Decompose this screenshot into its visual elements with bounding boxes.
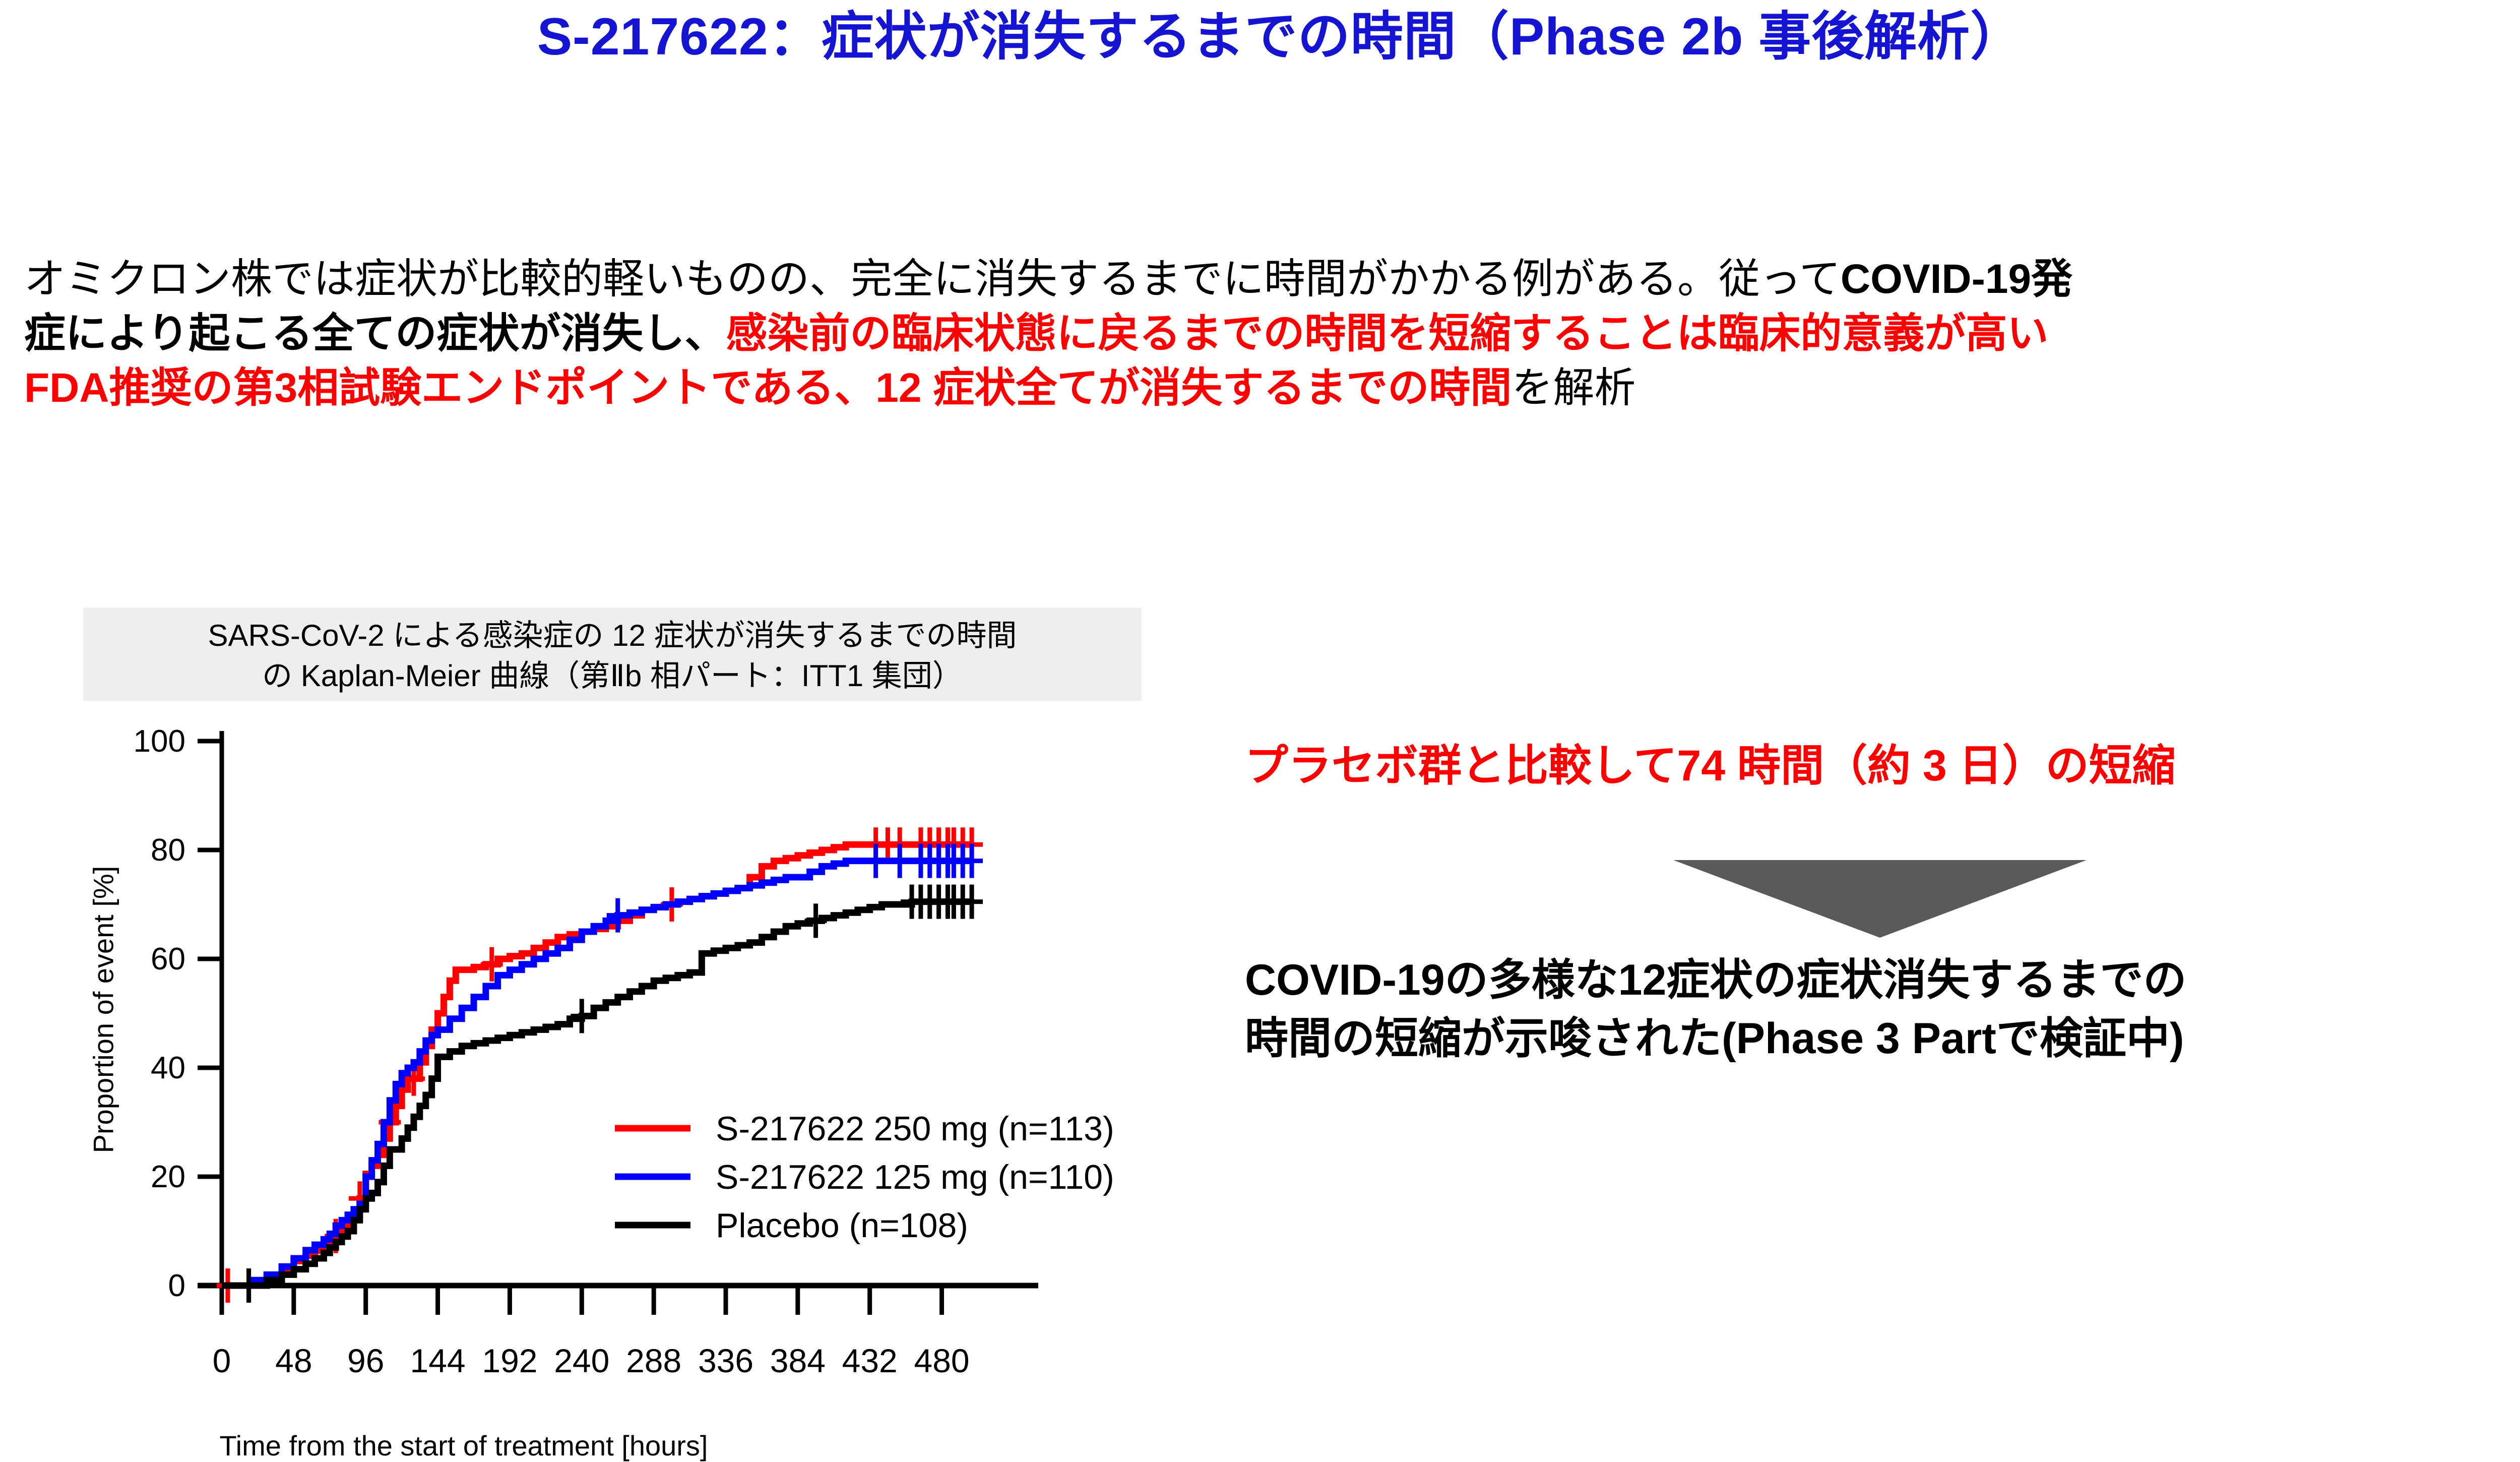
conclusion-line-2: 時間の短縮が示唆された(Phase 3 Partで検証中) <box>1245 1009 2520 1068</box>
x-axis-tick-label: 384 <box>770 1342 826 1379</box>
figure-caption-line1: SARS-CoV-2 による感染症の 12 症状が消失するまでの時間 <box>208 619 1017 652</box>
figure-caption-line2: の Kaplan-Meier 曲線（第Ⅱb 相パート：ITT1 集団） <box>83 656 1142 696</box>
body-paragraph: オミクロン株では症状が比較的軽いものの、完全に消失するまでに時間がかかる例がある… <box>24 252 2520 415</box>
slide-canvas: S-217622：症状が消失するまでの時間（Phase 2b 事後解析） オミク… <box>0 0 2520 1402</box>
y-axis-tick-label: 60 <box>151 942 185 977</box>
x-axis-tick-label: 480 <box>914 1342 970 1379</box>
x-axis-label: Time from the start of treatment [hours] <box>111 1429 816 1462</box>
body-line-1: オミクロン株では症状が比較的軽いものの、完全に消失するまでに時間がかかる例がある… <box>24 252 2520 307</box>
x-axis-tick-label: 240 <box>554 1342 609 1379</box>
y-axis-tick-label: 0 <box>168 1268 185 1303</box>
body-line-3-black: を解析 <box>1511 365 1635 411</box>
x-axis-tick-label: 192 <box>482 1342 537 1379</box>
x-axis-tick-label: 48 <box>275 1342 312 1379</box>
km-plot-area: Proportion of event [%] 0204060801000489… <box>71 711 1200 1396</box>
body-line-1-black: オミクロン株では症状が比較的軽いものの、完全に消失するまでに時間がかかる例がある… <box>24 256 1841 302</box>
conclusion-text: COVID-19の多様な12症状の症状消失するまでの 時間の短縮が示唆された(P… <box>1245 951 2520 1068</box>
y-axis-tick-label: 80 <box>151 833 185 868</box>
x-axis-tick-label: 288 <box>626 1342 681 1379</box>
body-line-2-red: 感染前の臨床状態に戻るまでの時間を短縮することは臨床的意義が高い <box>726 311 2048 356</box>
legend-label-1: S-217622 125 mg (n=110) <box>716 1158 1114 1196</box>
down-arrow-shape <box>1673 857 2087 938</box>
y-axis-label: Proportion of event [%] <box>87 803 120 1216</box>
x-axis-tick-label: 144 <box>410 1342 466 1379</box>
figure-caption: SARS-CoV-2 による感染症の 12 症状が消失するまでの時間 の Kap… <box>83 607 1142 701</box>
body-line-1-bold: COVID-19発 <box>1841 256 2072 302</box>
y-axis-tick-label: 100 <box>134 724 185 759</box>
page-title: S-217622：症状が消失するまでの時間（Phase 2b 事後解析） <box>0 7 2520 68</box>
y-axis-tick-label: 20 <box>151 1160 185 1194</box>
x-axis-tick-label: 432 <box>842 1342 898 1379</box>
body-line-2: 症により起こる全ての症状が消失し、感染前の臨床状態に戻るまでの時間を短縮すること… <box>24 307 2520 361</box>
conclusion-line-1: COVID-19の多様な12症状の症状消失するまでの <box>1245 951 2520 1009</box>
reduction-callout: プラセボ群と比較して74 時間（約 3 日）の短縮 <box>1245 730 2520 793</box>
y-axis-tick-label: 40 <box>151 1051 185 1085</box>
km-chart-svg: 0204060801000489614419224028833638443248… <box>71 711 1200 1417</box>
legend-label-0: S-217622 250 mg (n=113) <box>716 1110 1114 1148</box>
legend-label-2: Placebo (n=108) <box>716 1206 968 1245</box>
x-axis-tick-label: 0 <box>213 1342 231 1379</box>
body-line-3: FDA推奨の第3相試験エンドポイントである、12 症状全てが消失するまでの時間を… <box>24 361 2520 415</box>
body-line-3-red: FDA推奨の第3相試験エンドポイントである、12 症状全てが消失するまでの時間 <box>24 365 1511 411</box>
body-line-2-black: 症により起こる全ての症状が消失し、 <box>24 311 726 356</box>
km-figure: SARS-CoV-2 による感染症の 12 症状が消失するまでの時間 の Kap… <box>71 607 1200 1394</box>
x-axis-tick-label: 96 <box>347 1342 384 1379</box>
x-axis-tick-label: 336 <box>698 1342 753 1379</box>
